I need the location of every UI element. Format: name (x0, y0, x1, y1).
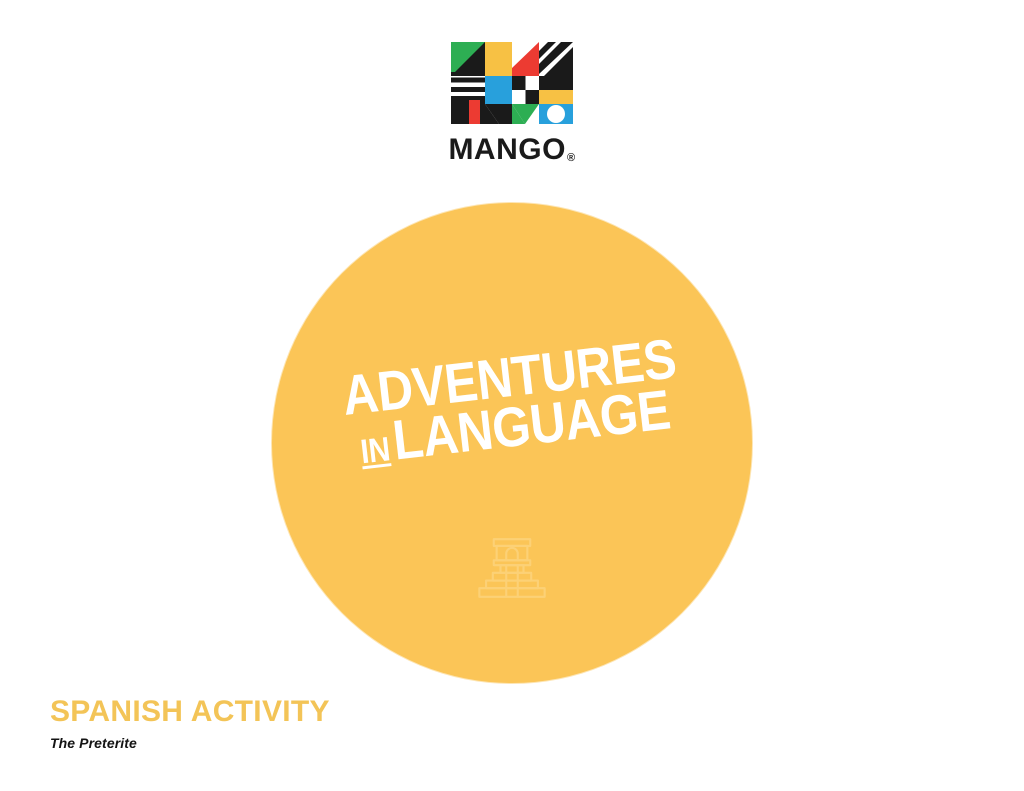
mayan-pyramid-icon (464, 521, 560, 617)
hero-title-small-word: IN (359, 430, 392, 471)
brand-wordmark-text: MANGO (448, 135, 566, 165)
activity-subtitle: The Preterite (50, 735, 330, 751)
hero-circle-badge: ADVENTURES INLANGUAGE (272, 203, 752, 683)
hero-title: ADVENTURES INLANGUAGE (268, 326, 756, 478)
activity-title: SPANISH ACTIVITY (50, 696, 330, 728)
brand-wordmark: MANGO® (448, 135, 575, 165)
registered-trademark-icon: ® (567, 153, 576, 164)
mango-mosaic-m-logo (451, 42, 573, 124)
footer: SPANISH ACTIVITY The Preterite (50, 696, 330, 751)
brand-logo: MANGO® (0, 42, 1024, 165)
